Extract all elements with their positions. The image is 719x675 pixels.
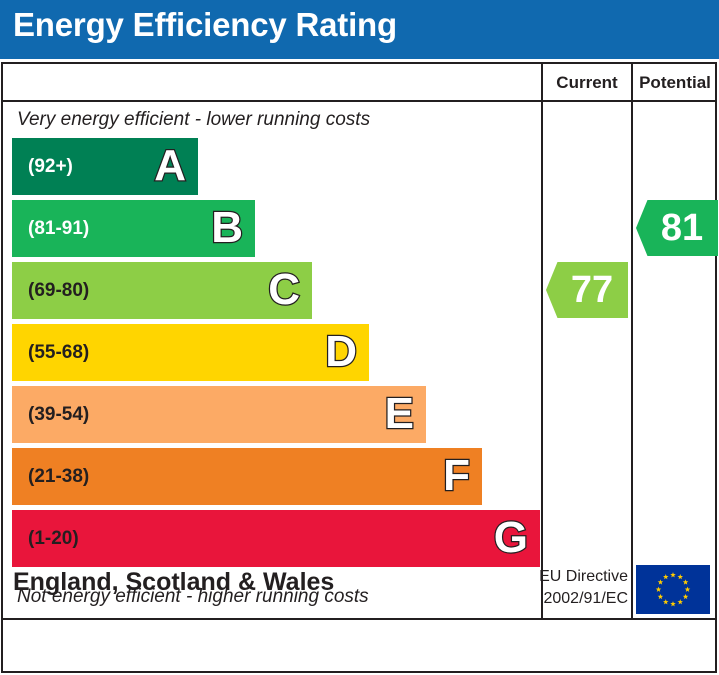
band-range-e: (39-54) (28, 404, 89, 426)
rating-band-g: (1-20)G (12, 510, 540, 567)
band-letter-b: B (211, 206, 243, 250)
footer-region-label: England, Scotland & Wales (13, 568, 334, 597)
band-letter-g: G (494, 516, 528, 560)
potential-column-divider (631, 64, 633, 620)
header-row-divider (3, 100, 715, 102)
rating-band-c: (69-80)C (12, 262, 312, 319)
column-header-potential: Potential (633, 71, 717, 95)
rating-band-d: (55-68)D (12, 324, 369, 381)
band-range-b: (81-91) (28, 218, 89, 240)
column-header-current: Current (543, 71, 631, 95)
band-letter-f: F (443, 454, 470, 498)
directive-line-2: 2002/91/EC (518, 588, 628, 610)
current-column-divider (541, 64, 543, 620)
band-range-a: (92+) (28, 156, 73, 178)
band-range-c: (69-80) (28, 280, 89, 302)
band-range-g: (1-20) (28, 528, 79, 550)
rating-band-a: (92+)A (12, 138, 198, 195)
potential-rating-value: 81 (651, 209, 703, 247)
band-letter-e: E (385, 392, 414, 436)
current-rating-value: 77 (561, 271, 613, 309)
band-letter-a: A (154, 144, 186, 188)
band-range-f: (21-38) (28, 466, 89, 488)
rating-band-b: (81-91)B (12, 200, 255, 257)
footer-directive: EU Directive 2002/91/EC (518, 566, 628, 609)
band-letter-c: C (268, 268, 300, 312)
rating-band-e: (39-54)E (12, 386, 426, 443)
rating-band-f: (21-38)F (12, 448, 482, 505)
band-range-d: (55-68) (28, 342, 89, 364)
header-bar: Energy Efficiency Rating (0, 0, 719, 59)
current-rating-marker: 77 (546, 262, 628, 318)
potential-rating-marker: 81 (636, 200, 718, 256)
eu-flag-icon (636, 565, 710, 614)
band-letter-d: D (325, 330, 357, 374)
caption-top: Very energy efficient - lower running co… (17, 109, 370, 131)
page-title: Energy Efficiency Rating (13, 6, 397, 44)
directive-line-1: EU Directive (518, 566, 628, 588)
energy-efficiency-certificate: Energy Efficiency Rating Current Potenti… (0, 0, 719, 675)
footer-row-divider (3, 618, 715, 620)
